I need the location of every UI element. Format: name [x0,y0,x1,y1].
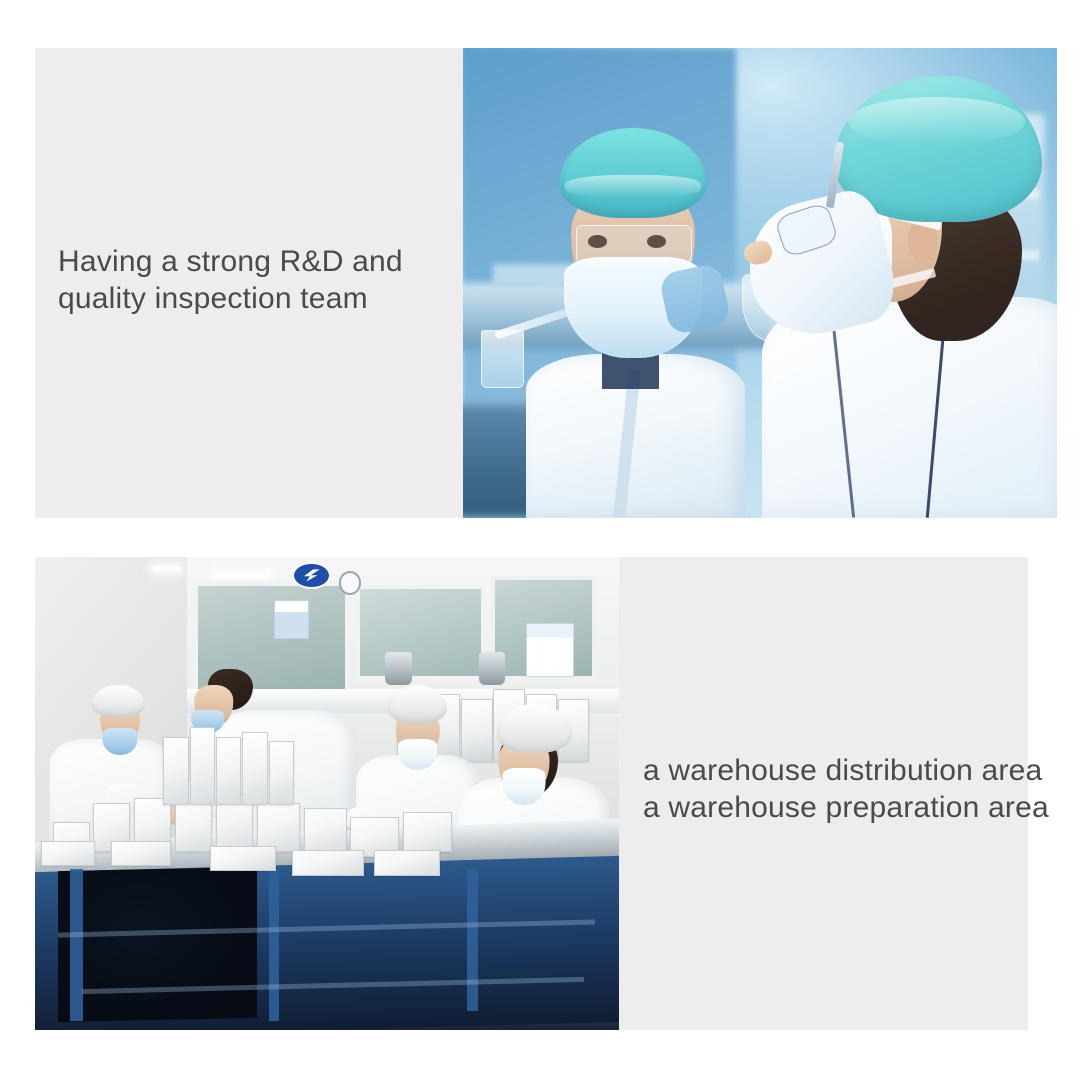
carton-box [292,850,364,876]
page-root: Having a strong R&D and quality inspecti… [0,0,1080,1080]
warehouse-caption-line-2: a warehouse preparation area [643,791,1049,824]
hair-net [91,685,145,717]
carton-box [304,808,347,853]
carton-box [41,841,96,867]
table-leg [269,869,280,1020]
rd-caption: Having a strong R&D and quality inspecti… [58,243,403,317]
warehouse-photo [35,557,619,1030]
carton-box [269,741,294,804]
ceiling-lamp [152,566,181,571]
carton-box [374,850,440,876]
table-shadow-area [58,867,257,1023]
technician-eye [647,235,666,247]
technician-eye [588,235,607,247]
hair-net-cap [559,128,706,218]
table-leg [467,869,478,1011]
carton-box [111,841,171,867]
lab-scene [463,48,1057,518]
carton-box [163,737,188,805]
table-leg [70,869,83,1020]
rd-caption-line-1: Having a strong R&D and [58,245,403,278]
steel-container [385,652,411,685]
carton-box [190,727,215,805]
rd-lab-photo [463,48,1057,518]
rd-caption-line-2: quality inspection team [58,282,368,315]
carton-box [175,803,212,852]
hair-net [497,704,572,753]
carton-box [216,737,241,805]
wall-notice-board [274,600,308,640]
carton-box [403,812,452,852]
warehouse-caption: a warehouse distribution area a warehous… [643,752,1049,826]
blue-safety-sign-icon [292,562,331,590]
warehouse-caption-line-1: a warehouse distribution area [643,754,1042,787]
ceiling-lamp [216,571,269,578]
steel-container [479,652,505,685]
wall-notice-board [526,623,575,677]
lab-technician-front [516,128,754,518]
warehouse-window [356,585,484,680]
carton-box [210,846,276,872]
technician-hand [741,238,774,268]
hair-net [388,685,448,725]
lab-technician-profile [742,76,1057,518]
carton-box [242,732,267,805]
warehouse-scene [35,557,619,1030]
